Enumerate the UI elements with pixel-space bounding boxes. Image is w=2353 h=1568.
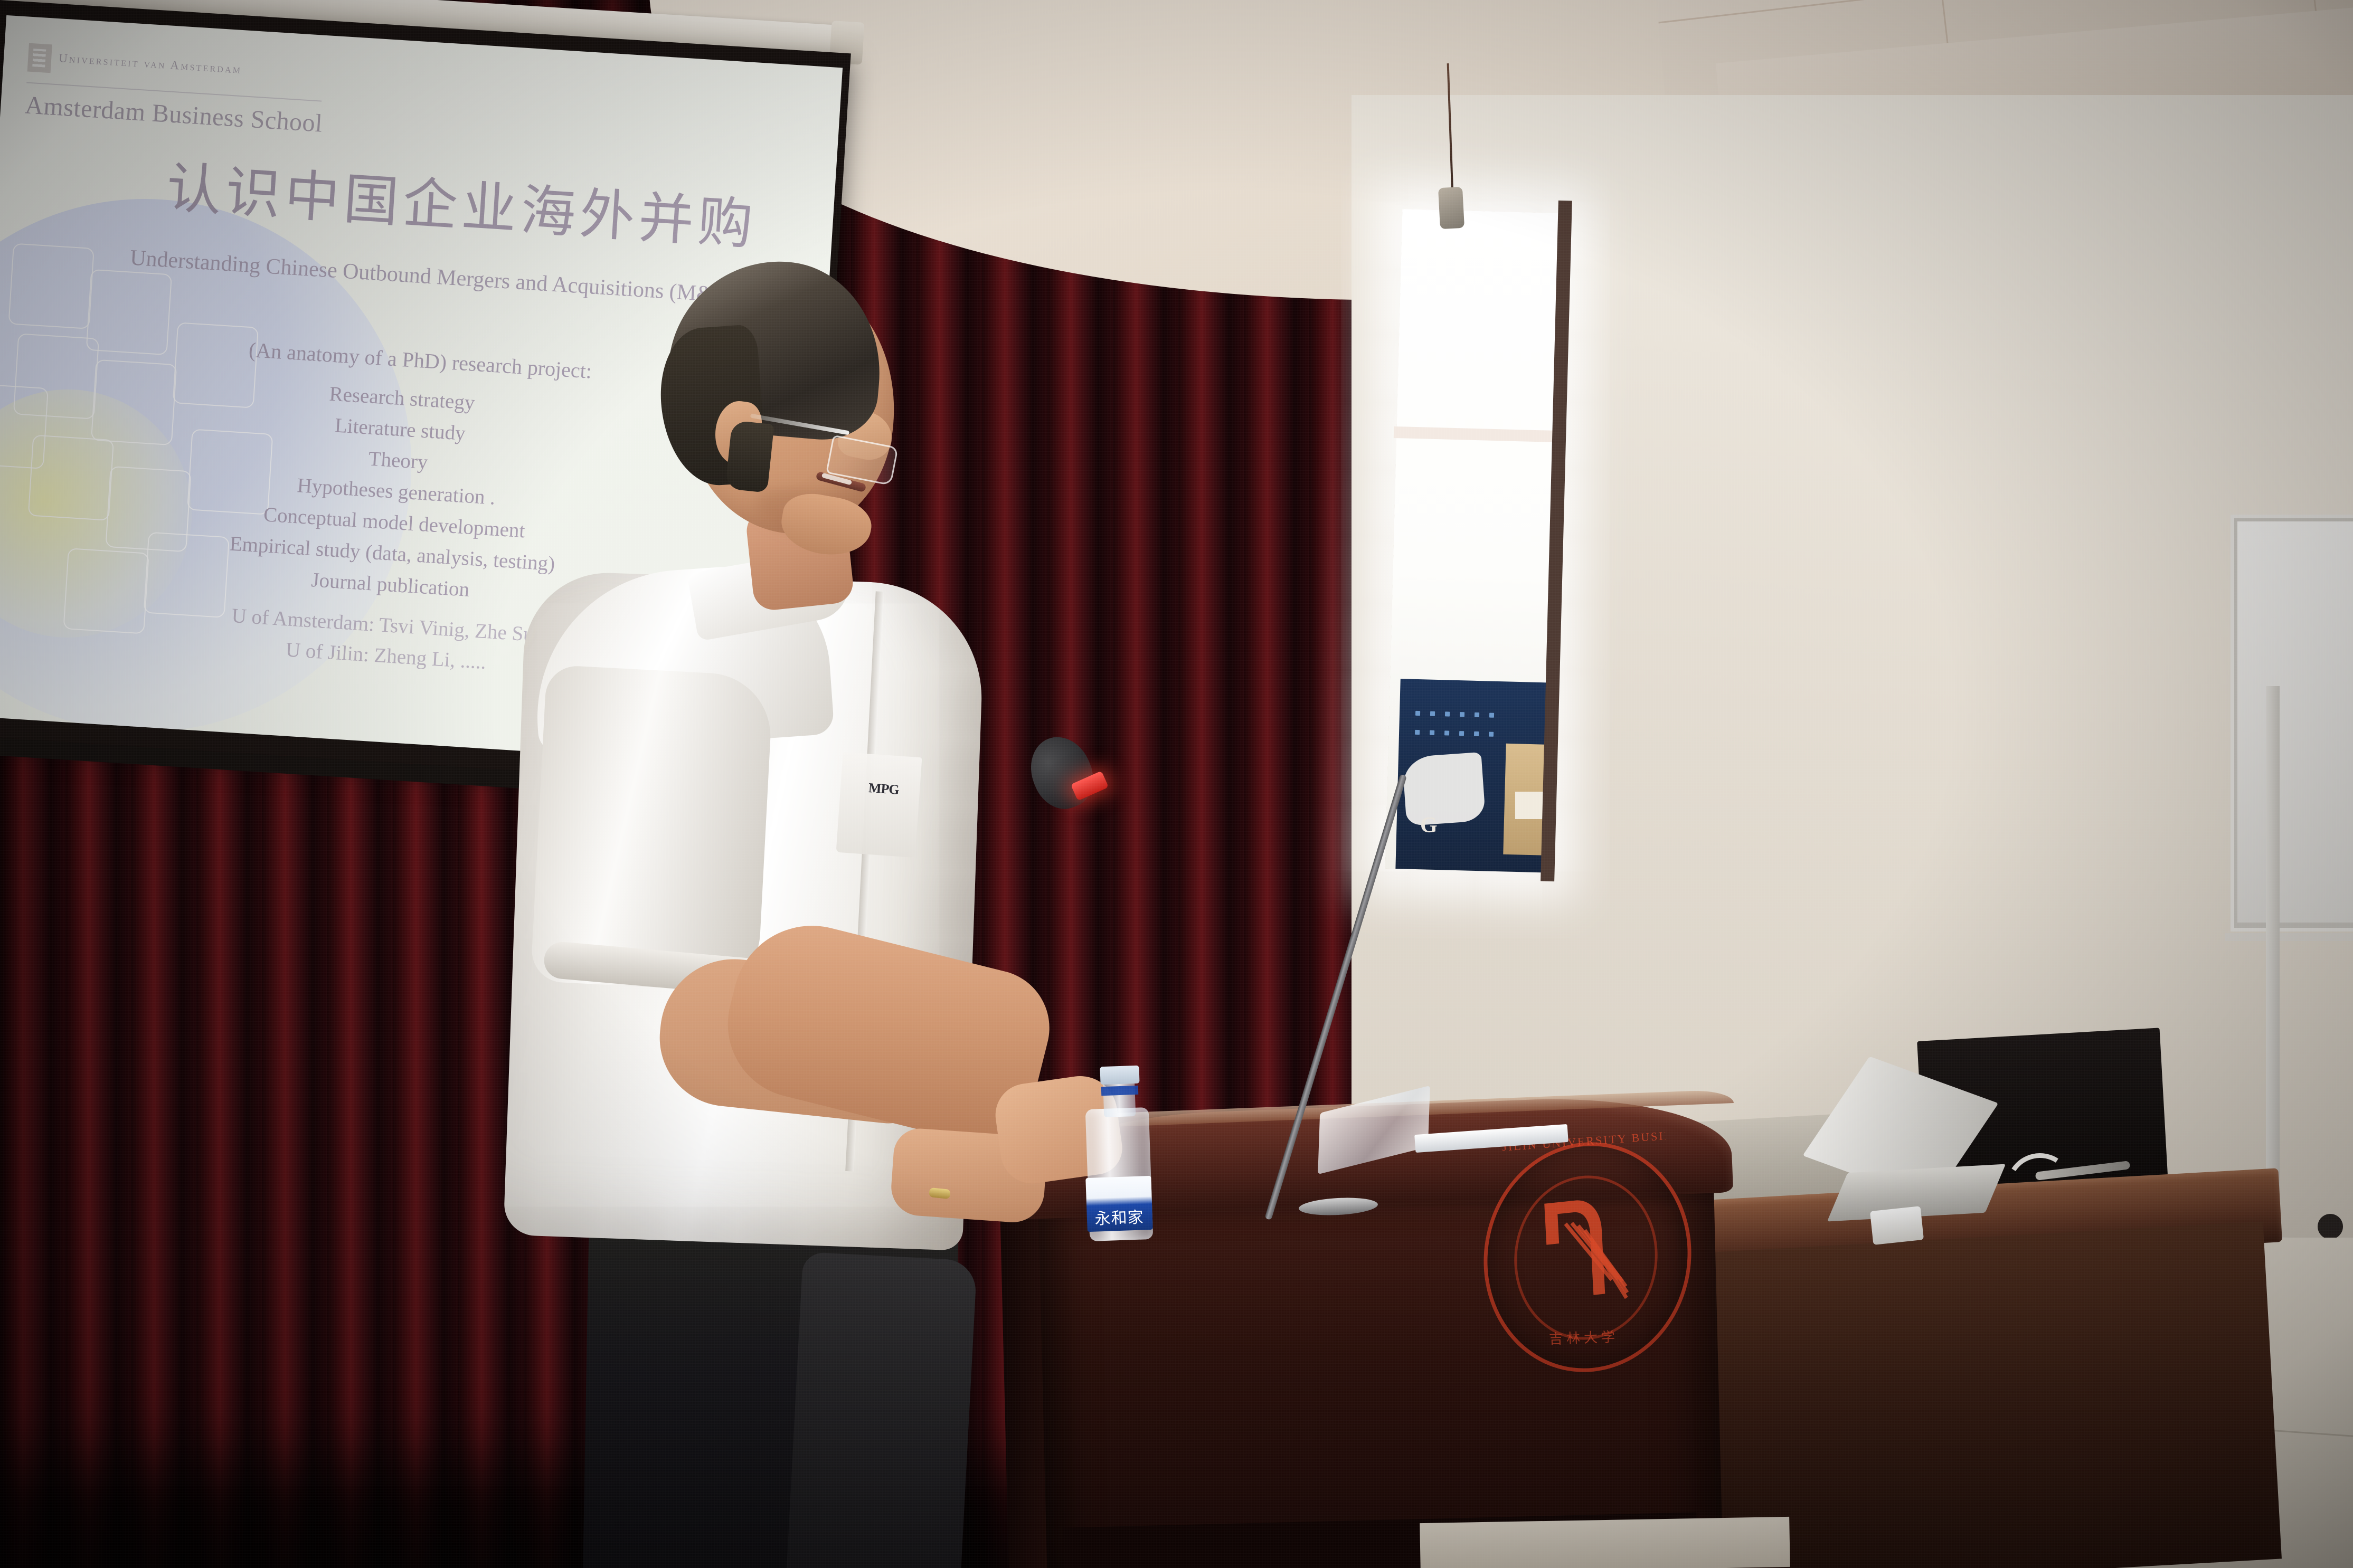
whiteboard-stand-post (2266, 686, 2280, 1246)
speaker-sideburn (725, 420, 774, 493)
shirt-pocket (836, 752, 922, 858)
seal-bird-emblem (1537, 1185, 1633, 1316)
pull-cord-weight[interactable] (1438, 187, 1464, 229)
floor-foreground (1420, 1517, 1790, 1568)
shirt-monogram: MPG (868, 780, 900, 798)
bottle-cap[interactable] (1100, 1066, 1139, 1085)
bottle-label-text: 永和家 (1088, 1204, 1150, 1229)
crumpled-paper (1402, 752, 1486, 826)
speaker-trousers-leg (786, 1252, 977, 1568)
power-adapter (1870, 1206, 1924, 1245)
lecture-hall-photo: G (0, 0, 2353, 1568)
box-label (1515, 792, 1546, 819)
whiteboard-tray (2225, 933, 2353, 941)
equipment-marking: G (1420, 813, 1439, 838)
bottle-collar-ring (1101, 1086, 1139, 1096)
whiteboard-caster (2318, 1214, 2343, 1239)
whiteboard-surface[interactable] (2237, 521, 2353, 923)
side-desk-front (1675, 1221, 2282, 1568)
